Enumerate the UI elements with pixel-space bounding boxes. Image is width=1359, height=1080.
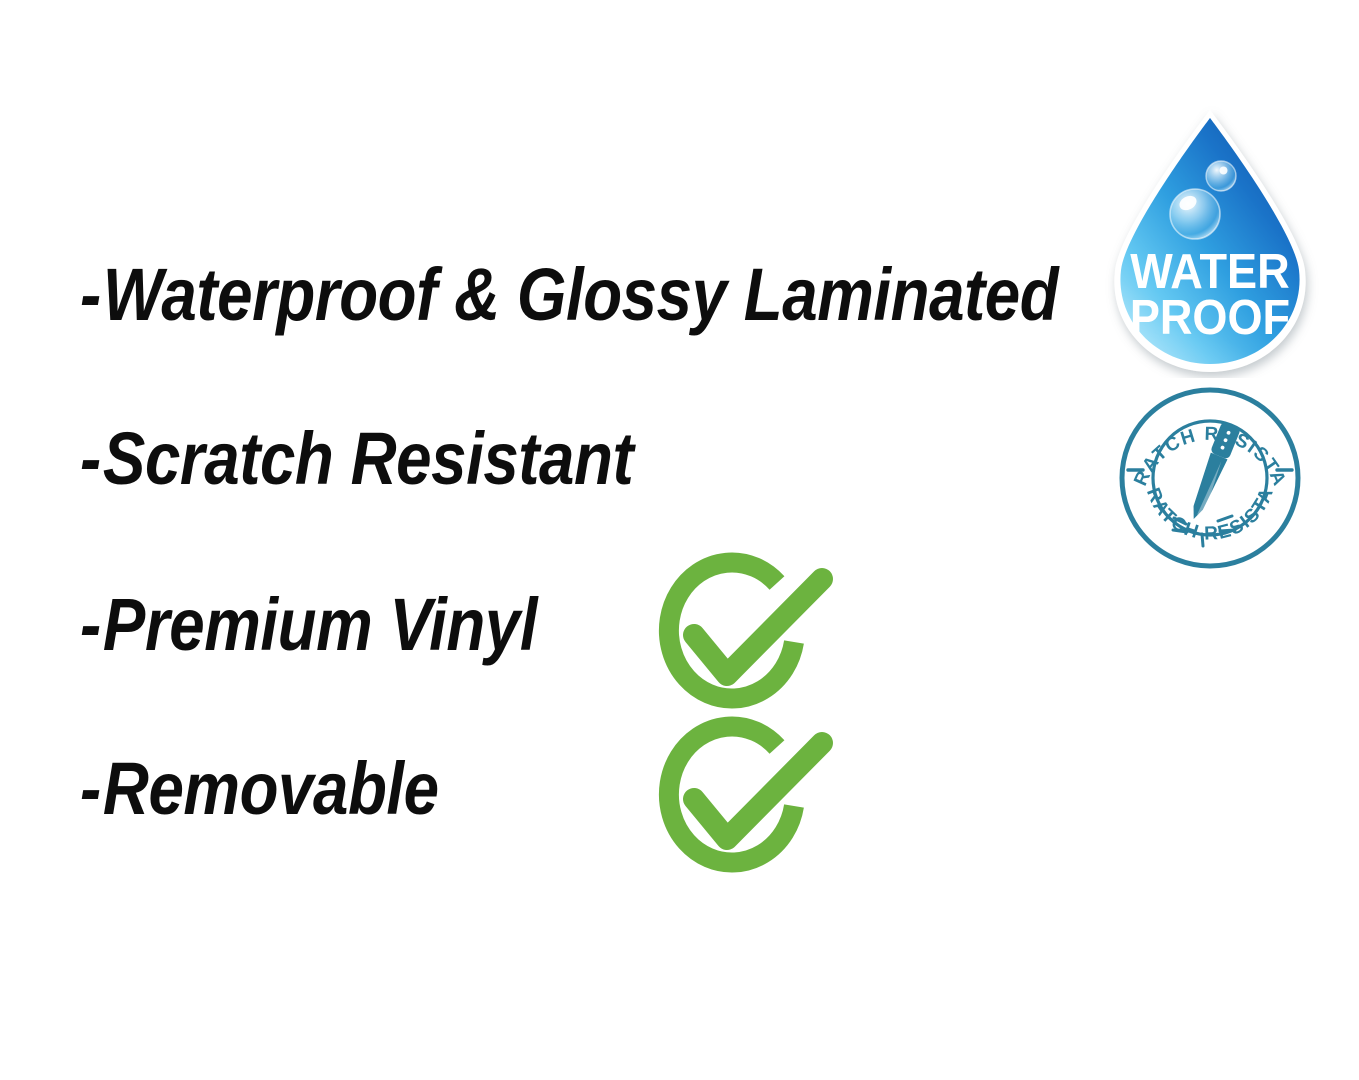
seal-top-text: SCRATCH RESISTANT [1112,384,1290,490]
bubble-small-highlight [1220,167,1228,175]
waterproof-text-line2: PROOF [1130,289,1290,344]
feature-label: Removable [103,747,439,830]
feature-bullet-dash: - [80,583,103,666]
feature-label: Waterproof & Glossy Laminated [103,253,1058,336]
knife-seal-icon: SCRATCH RESISTANT SCRATCH RESISTANT [1112,384,1312,574]
feature-line-premium-vinyl: -Premium Vinyl [80,588,537,662]
waterproof-badge: WATER PROOF [1098,100,1322,378]
check-circle-icon [640,552,840,712]
feature-bullet-dash: - [80,747,103,830]
seal-bottom-text: SCRATCH RESISTANT [1112,384,1278,545]
feature-line-removable: -Removable [80,752,439,826]
feature-line-waterproof: -Waterproof & Glossy Laminated [80,258,1058,332]
bubble-small-icon [1206,161,1236,191]
water-drop-icon: WATER PROOF [1098,100,1322,378]
feature-bullet-dash: - [80,253,103,336]
feature-line-scratch-resistant: -Scratch Resistant [80,422,633,496]
check-badge-removable [640,716,840,876]
check-circle-icon [640,716,840,876]
product-feature-graphic: -Waterproof & Glossy Laminated -Scratch … [0,0,1359,1080]
feature-label: Scratch Resistant [103,417,633,500]
feature-label: Premium Vinyl [103,583,537,666]
check-badge-premium-vinyl [640,552,840,712]
check-mark [694,579,822,675]
check-mark [694,743,822,839]
scratch-resistant-badge: SCRATCH RESISTANT SCRATCH RESISTANT [1112,384,1312,574]
bubble-large-icon [1170,189,1220,239]
feature-bullet-dash: - [80,417,103,500]
